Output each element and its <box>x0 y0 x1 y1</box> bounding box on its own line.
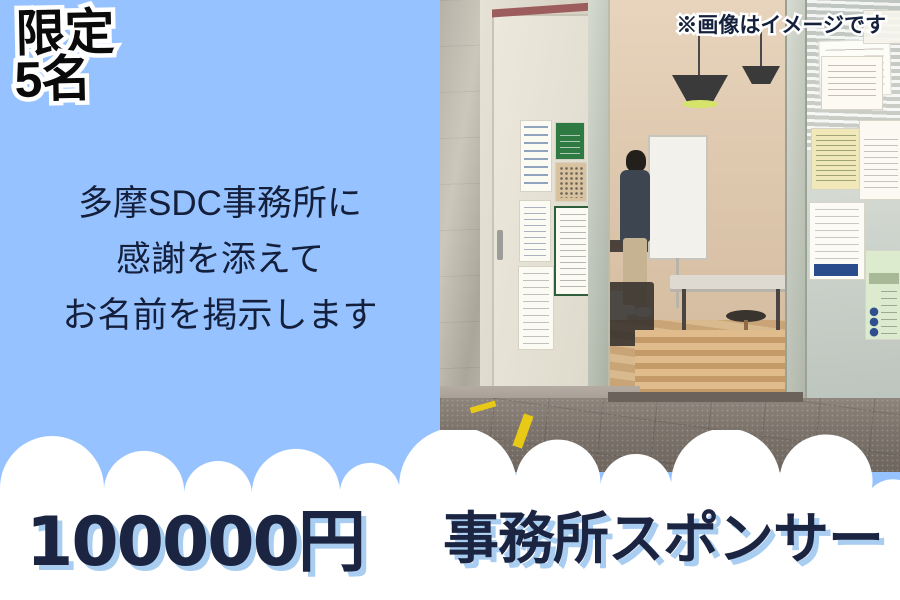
right-glass-panel <box>807 0 900 430</box>
poster-bazaar-bullets <box>869 307 879 337</box>
poster-consult <box>809 202 865 280</box>
table-leg-left <box>682 289 686 335</box>
pendant-lamp-shade <box>672 75 728 103</box>
person-head <box>626 150 646 172</box>
limit-badge-line2: 5名 <box>14 55 115 103</box>
poster-notice <box>821 56 883 110</box>
pendant-lamp-glow <box>682 100 718 108</box>
poster-bazaar-title <box>869 273 899 284</box>
reward-line-3: お名前を掲示します <box>0 288 440 344</box>
price-amount: 100000円 <box>26 486 364 585</box>
whiteboard <box>648 135 708 260</box>
limit-badge: 限定 5名 <box>13 9 115 103</box>
flyer-notice <box>519 200 551 262</box>
poster-yellow-event <box>811 128 861 190</box>
door-handle <box>497 230 503 260</box>
door-mullion-inner <box>588 0 608 410</box>
sponsor-tier-poster: ※画像はイメージです 限定 5名 多摩SDC事務所に 感謝を添えて お名前を掲示… <box>0 0 900 600</box>
limit-badge-line1: 限定 <box>13 9 114 57</box>
flyer-tan <box>555 162 587 202</box>
table-leg-right <box>776 289 780 335</box>
poster-white-news <box>859 120 900 200</box>
poster-bazaar-text <box>881 291 897 335</box>
photo-content <box>440 0 900 472</box>
meeting-table <box>670 275 790 289</box>
bottom-text-row: 100000円 事務所スポンサー <box>0 472 900 600</box>
reward-description: 多摩SDC事務所に 感謝を添えて お名前を掲示します <box>0 176 440 344</box>
flyer-lower <box>518 266 554 350</box>
flyer-framed <box>554 206 592 296</box>
poster-consult-badge <box>814 264 858 276</box>
image-disclaimer: ※画像はイメージです <box>676 9 886 39</box>
glass-mullion-post <box>785 0 807 430</box>
second-lamp-shade <box>742 66 780 84</box>
flyer-green <box>555 122 585 160</box>
door-flyers <box>518 120 586 420</box>
flyer-blue <box>520 120 552 192</box>
door-threshold <box>608 392 803 402</box>
office-entrance-photo <box>440 0 900 472</box>
reward-line-2: 感謝を添えて <box>0 232 440 288</box>
person-body <box>620 170 650 242</box>
poster-bazaar-green <box>865 250 900 340</box>
reward-line-1: 多摩SDC事務所に <box>0 176 440 232</box>
sponsor-tier-name: 事務所スポンサー <box>443 494 883 575</box>
